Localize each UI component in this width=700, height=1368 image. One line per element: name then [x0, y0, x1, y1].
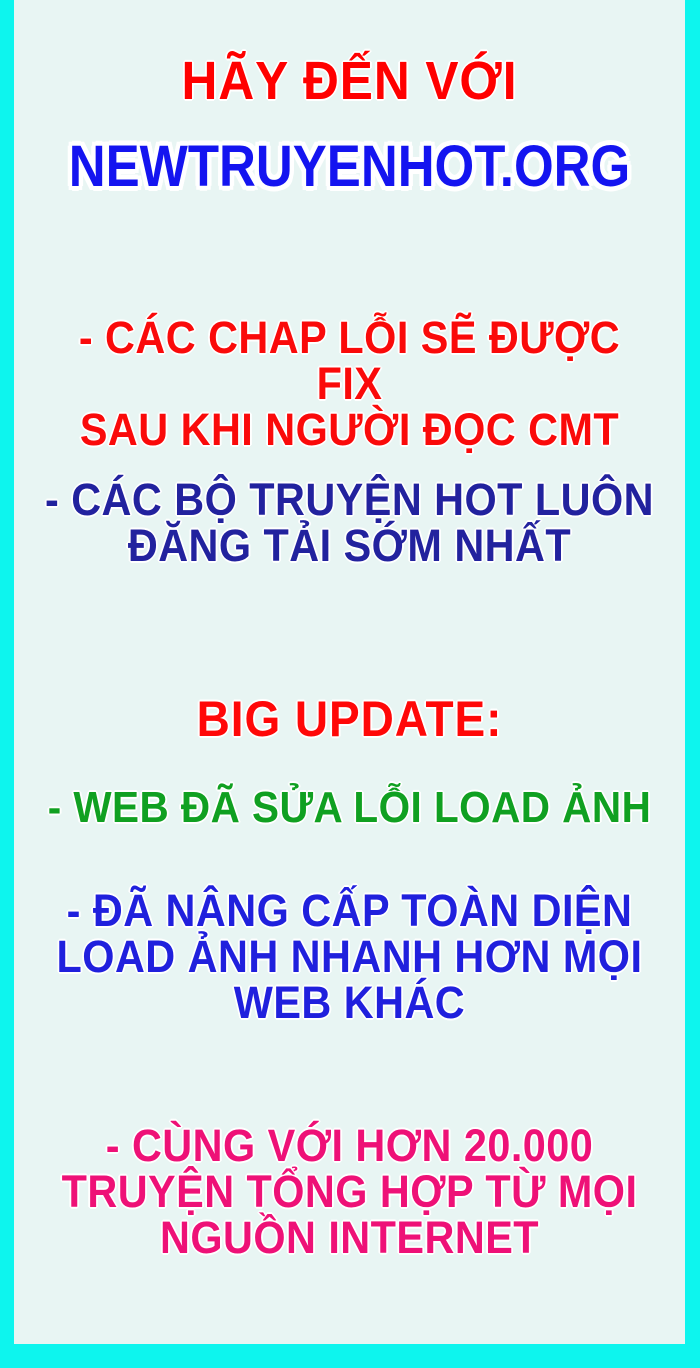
bullet-image-load-fix: - WEB ĐÃ SỬA LỖI LOAD ẢNH: [41, 786, 658, 831]
bullet-library-count: - CÙNG VỚI HƠN 20.000 TRUYỆN TỔNG HỢP TỪ…: [41, 1123, 658, 1261]
banner-content-panel: HÃY ĐẾN VỚI NEWTRUYENHOT.ORG - CÁC CHAP …: [14, 0, 685, 1344]
promo-banner: HÃY ĐẾN VỚI NEWTRUYENHOT.ORG - CÁC CHAP …: [0, 0, 700, 1368]
bullet-hot-series: - CÁC BỘ TRUYỆN HOT LUÔN ĐĂNG TẢI SỚM NH…: [41, 477, 658, 569]
banner-text-stack: HÃY ĐẾN VỚI NEWTRUYENHOT.ORG - CÁC CHAP …: [14, 0, 685, 1344]
bullet-chapter-fix: - CÁC CHAP LỖI SẼ ĐƯỢC FIX SAU KHI NGƯỜI…: [41, 315, 658, 453]
heading-big-update: BIG UPDATE:: [41, 694, 658, 745]
bullet-full-upgrade: - ĐÃ NÂNG CẤP TOÀN DIỆN LOAD ẢNH NHANH H…: [41, 888, 658, 1026]
headline-greeting: HÃY ĐẾN VỚI: [41, 54, 658, 109]
site-domain-headline[interactable]: NEWTRUYENHOT.ORG: [54, 137, 644, 196]
